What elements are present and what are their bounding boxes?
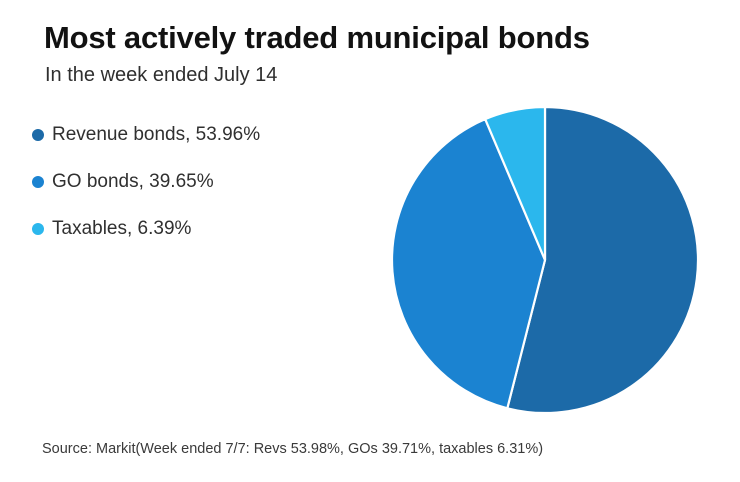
legend-item-taxables: Taxables, 6.39% [32,216,362,242]
legend-label-revenue-bonds: Revenue bonds, 53.96% [52,124,260,146]
pie-svg [391,106,699,414]
legend-label-taxables: Taxables, 6.39% [52,218,191,240]
pie-slice-group [392,107,698,413]
chart-subtitle: In the week ended July 14 [45,64,277,87]
pie-plot-area [391,106,699,414]
legend-item-revenue-bonds: Revenue bonds, 53.96% [32,122,362,148]
legend-swatch-taxables-icon [32,223,44,235]
legend-label-go-bonds: GO bonds, 39.65% [52,171,214,193]
legend-swatch-go-bonds-icon [32,176,44,188]
chart-title: Most actively traded municipal bonds [44,20,590,56]
pie-chart-figure: Most actively traded municipal bonds In … [0,0,740,482]
legend-item-go-bonds: GO bonds, 39.65% [32,169,362,195]
chart-source-note: Source: Markit(Week ended 7/7: Revs 53.9… [42,441,543,457]
legend-swatch-revenue-bonds-icon [32,129,44,141]
chart-legend: Revenue bonds, 53.96% GO bonds, 39.65% T… [32,122,362,263]
